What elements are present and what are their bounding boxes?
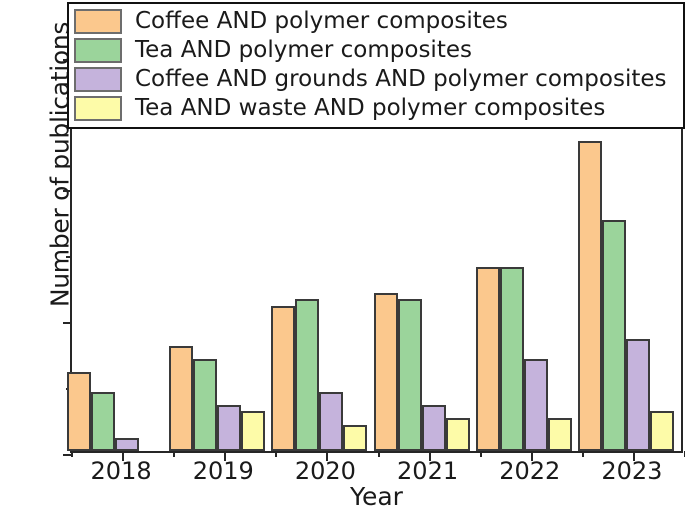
legend-item-label: Tea AND waste AND polymer composites bbox=[135, 96, 605, 121]
bar bbox=[91, 392, 115, 451]
x-tick-label: 2022 bbox=[475, 458, 585, 484]
x-tick-minor bbox=[582, 451, 584, 457]
x-tick-minor bbox=[480, 451, 482, 457]
bar bbox=[67, 372, 91, 451]
y-tick-major bbox=[63, 322, 72, 324]
bar bbox=[476, 267, 500, 451]
legend-item[interactable]: Tea AND waste AND polymer composites bbox=[74, 94, 678, 123]
x-tick-minor bbox=[275, 451, 277, 457]
x-axis-title: Year bbox=[70, 482, 683, 511]
legend-item[interactable]: Coffee AND polymer composites bbox=[74, 7, 678, 36]
bar bbox=[271, 306, 295, 451]
y-tick-major bbox=[63, 190, 72, 192]
chart-legend: Coffee AND polymer compositesTea AND pol… bbox=[67, 2, 685, 129]
legend-item-label: Coffee AND polymer composites bbox=[135, 9, 508, 34]
bar bbox=[626, 339, 650, 451]
bar bbox=[500, 267, 524, 451]
bar bbox=[217, 405, 241, 451]
x-tick-label: 2020 bbox=[270, 458, 380, 484]
bar bbox=[169, 346, 193, 451]
plot-area: Coffee AND polymer compositesTea AND pol… bbox=[70, 5, 683, 453]
bar bbox=[602, 220, 626, 451]
bar bbox=[193, 359, 217, 451]
bar bbox=[115, 438, 139, 451]
bar-chart-figure: Number of publications Coffee AND polyme… bbox=[0, 0, 685, 515]
legend-swatch bbox=[74, 9, 122, 34]
bar bbox=[650, 411, 674, 451]
legend-swatch bbox=[74, 96, 122, 121]
bar bbox=[578, 141, 602, 451]
legend-item[interactable]: Coffee AND grounds AND polymer composite… bbox=[74, 65, 678, 94]
bar bbox=[422, 405, 446, 451]
bar bbox=[548, 418, 572, 451]
bar bbox=[398, 299, 422, 451]
legend-item-label: Coffee AND grounds AND polymer composite… bbox=[135, 67, 667, 92]
legend-swatch bbox=[74, 67, 122, 92]
bar bbox=[524, 359, 548, 451]
bar bbox=[295, 299, 319, 451]
bar bbox=[374, 293, 398, 451]
bar bbox=[319, 392, 343, 451]
y-tick-minor bbox=[66, 256, 72, 258]
x-tick-minor bbox=[378, 451, 380, 457]
bar bbox=[446, 418, 470, 451]
x-tick-minor bbox=[71, 451, 73, 457]
legend-item[interactable]: Tea AND polymer composites bbox=[74, 36, 678, 65]
x-tick-minor bbox=[173, 451, 175, 457]
x-tick-label: 2021 bbox=[373, 458, 483, 484]
legend-swatch bbox=[74, 38, 122, 63]
x-tick-label: 2023 bbox=[577, 458, 685, 484]
x-tick-label: 2019 bbox=[168, 458, 278, 484]
x-tick-label: 2018 bbox=[66, 458, 176, 484]
legend-item-label: Tea AND polymer composites bbox=[135, 38, 472, 63]
bar bbox=[343, 425, 367, 451]
bar bbox=[241, 411, 265, 451]
